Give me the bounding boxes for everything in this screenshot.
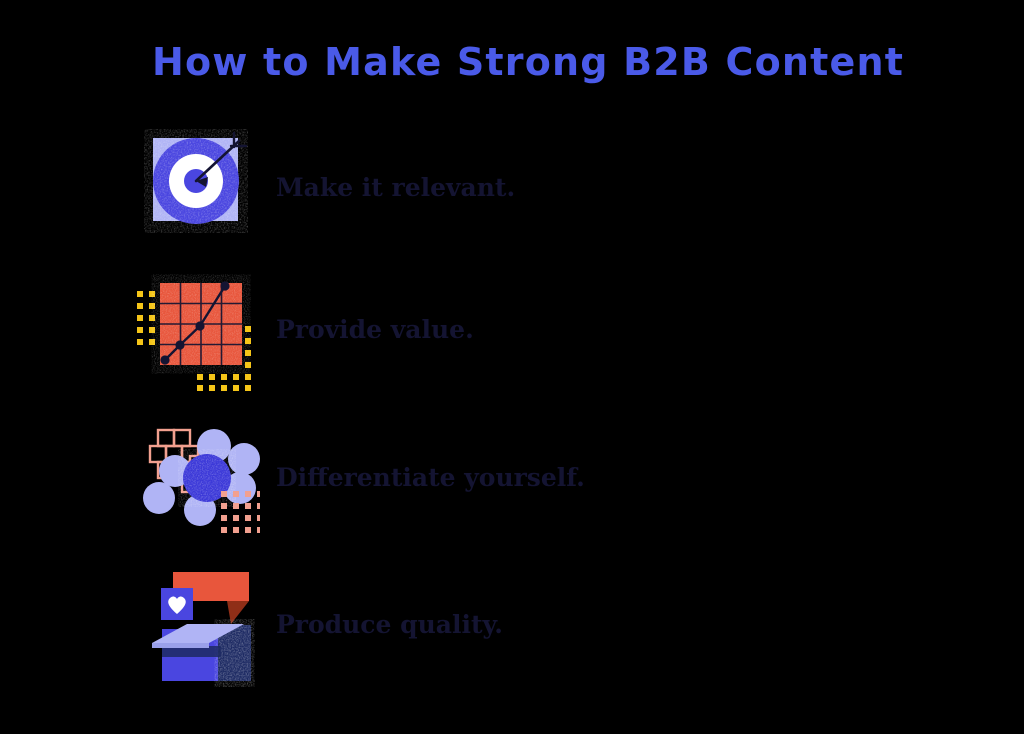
amber-dot-grid-bottom: [197, 374, 251, 391]
list-item-label: Make it relevant.: [276, 173, 515, 202]
scattered-circles-icon: [130, 418, 260, 568]
amber-dot-grid-left: [137, 291, 155, 345]
list-item-differentiate: Differentiate yourself.: [0, 418, 1024, 568]
list-item-value: Provide value.: [0, 270, 1024, 420]
amber-dot-column-right: [245, 326, 251, 368]
list-item-label: Differentiate yourself.: [276, 463, 585, 492]
list-item-label: Produce quality.: [276, 610, 503, 639]
speech-bubble-tail: [227, 601, 249, 624]
list-item-relevant: Make it relevant.: [0, 125, 1024, 275]
list-item-label: Provide value.: [276, 315, 474, 344]
grid-line-chart-icon: [130, 270, 260, 420]
speech-bubble-heart-box-icon: [130, 558, 260, 708]
page-title: How to Make Strong B2B Content: [152, 40, 904, 84]
target-bullseye-arrow-icon: [130, 125, 260, 275]
list-item-quality: Produce quality.: [0, 558, 1024, 708]
